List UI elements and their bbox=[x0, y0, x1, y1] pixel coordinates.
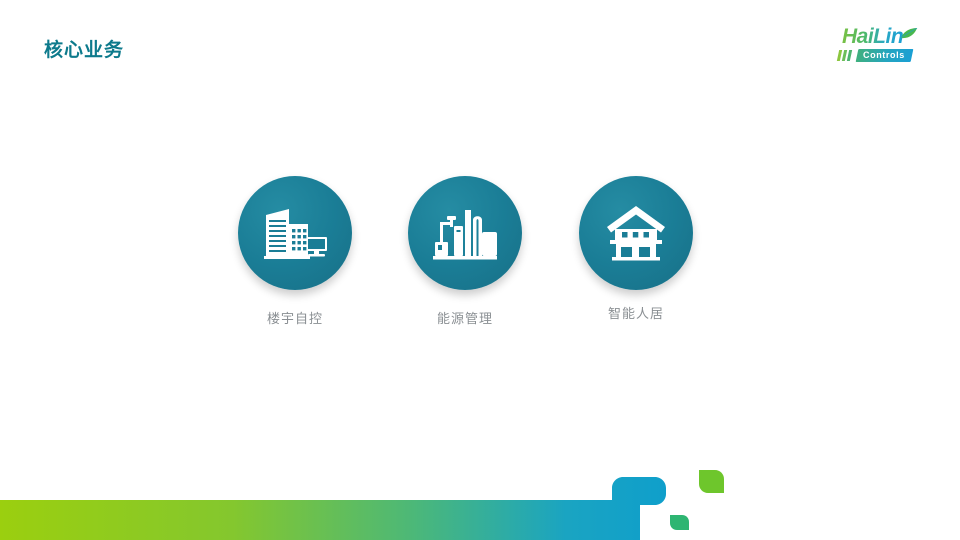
business-item-smart-home[interactable]: 智能人居 bbox=[556, 176, 716, 320]
icon-circle[interactable] bbox=[579, 176, 693, 290]
accent-leaf-small bbox=[670, 515, 689, 530]
industrial-plant-icon bbox=[432, 204, 498, 262]
gradient-bottom-bar bbox=[0, 477, 666, 540]
page-title: 核心业务 bbox=[44, 41, 124, 60]
accent-leaf-large bbox=[699, 470, 724, 493]
icon-circle[interactable] bbox=[238, 176, 352, 290]
business-item-building-automation[interactable]: 楼宇自控 bbox=[215, 176, 375, 325]
business-item-label: 能源管理 bbox=[385, 312, 545, 325]
building-monitor-icon bbox=[262, 204, 328, 262]
core-business-items: 楼宇自控 bbox=[0, 176, 960, 346]
business-item-energy-management[interactable]: 能源管理 bbox=[385, 176, 545, 325]
three-bars-icon bbox=[838, 50, 851, 61]
bottom-decoration bbox=[0, 450, 960, 540]
logo-subword: Controls bbox=[863, 51, 905, 60]
business-item-label: 智能人居 bbox=[556, 307, 716, 320]
logo-controls-badge: Controls bbox=[856, 49, 914, 62]
leaf-icon bbox=[900, 28, 918, 39]
house-icon bbox=[605, 205, 667, 261]
brand-logo: HaiLin Controls bbox=[836, 28, 932, 66]
business-item-label: 楼宇自控 bbox=[215, 312, 375, 325]
icon-circle[interactable] bbox=[408, 176, 522, 290]
logo-wordmark: HaiLin bbox=[842, 26, 903, 47]
slide-canvas: 核心业务 HaiLin Controls bbox=[0, 0, 960, 540]
